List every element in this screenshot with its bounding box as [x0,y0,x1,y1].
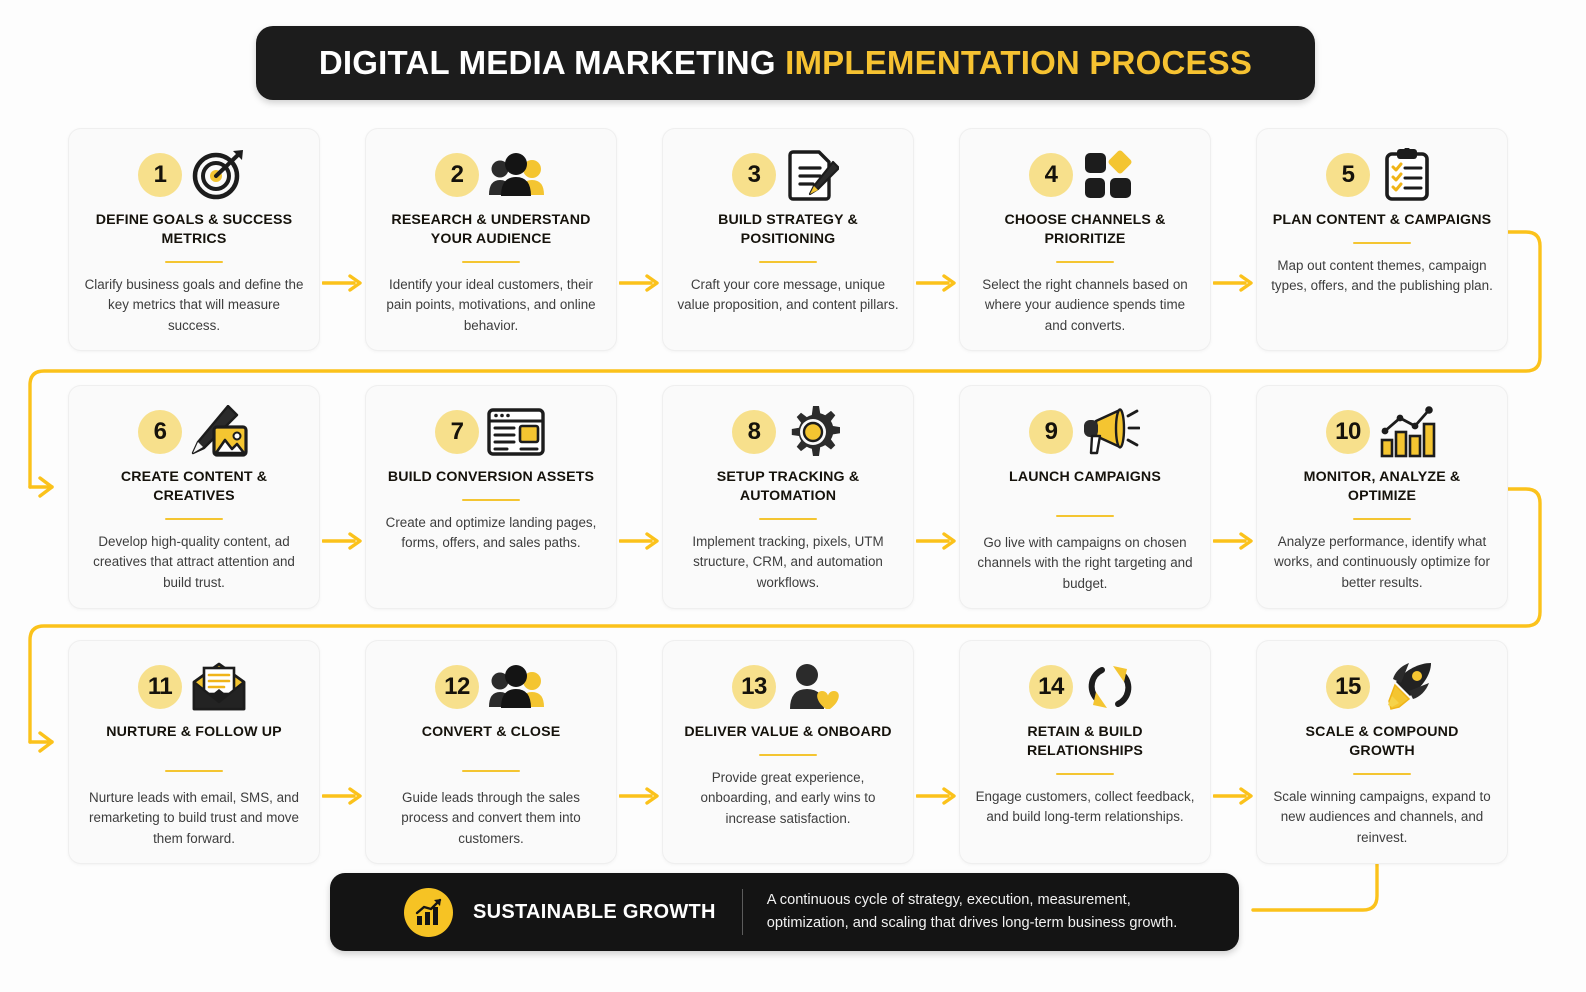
footer-description: A continuous cycle of strategy, executio… [767,889,1213,935]
title-divider [165,261,223,263]
bar-chart-growth-icon [1376,403,1438,461]
arrow-connector-14-15 [1211,640,1256,864]
document-pencil-icon [782,146,844,204]
person-heart-icon [782,658,844,716]
arrow-connector-6-7 [320,385,365,609]
step-title: BUILD CONVERSION ASSETS [388,468,594,487]
step-description: Identify your ideal customers, their pai… [380,275,602,336]
step-title: CONVERT & CLOSE [422,723,561,742]
step-card-11[interactable]: 11 NURTURE & FOLLOW UP Nurture leads wit… [68,640,320,864]
card-head: 6 [83,402,305,462]
title-divider [1056,261,1114,263]
clipboard-checklist-icon [1376,146,1438,204]
page-title: DIGITAL MEDIA MARKETING IMPLEMENTATION P… [319,44,1252,82]
step-card-4[interactable]: 4 CHOOSE CHANNELS & PRIORITIZE Select th… [959,128,1211,351]
step-number-badge: 13 [732,665,776,709]
step-number-badge: 15 [1326,665,1370,709]
title-divider [759,518,817,520]
title-divider [1353,773,1411,775]
arrow-connector-7-8 [617,385,662,609]
step-number-badge: 12 [435,665,479,709]
card-head: 10 [1271,402,1493,462]
landing-page-icon [485,403,547,461]
arrow-connector-1-2 [320,128,365,351]
title-divider [759,754,817,756]
arrow-connector-4-5 [1211,128,1256,351]
footer-divider [742,889,743,935]
arrow-connector-2-3 [617,128,662,351]
title-divider [462,770,520,772]
card-head: 11 [83,657,305,717]
card-head: 2 [380,145,602,205]
step-number-badge: 3 [732,153,776,197]
step-card-9[interactable]: 9 LAUNCH CAMPAIGNS Go live with campaign… [959,385,1211,609]
step-description: Craft your core message, unique value pr… [677,275,899,316]
step-title: DEFINE GOALS & SUCCESS METRICS [83,211,305,249]
growth-chart-icon [404,888,453,937]
step-description: Analyze performance, identify what works… [1271,532,1493,593]
step-title: BUILD STRATEGY & POSITIONING [677,211,899,249]
card-head: 5 [1271,145,1493,205]
step-title: MONITOR, ANALYZE & OPTIMIZE [1271,468,1493,506]
step-number-badge: 8 [732,410,776,454]
step-title: SETUP TRACKING & AUTOMATION [677,468,899,506]
step-description: Engage customers, collect feedback, and … [974,787,1196,828]
step-number-badge: 2 [435,153,479,197]
step-card-8[interactable]: 8 SETUP TRACKING & AUTOMATION Implement … [662,385,914,609]
step-description: Map out content themes, campaign types, … [1271,256,1493,297]
step-number-badge: 7 [435,410,479,454]
card-head: 4 [974,145,1196,205]
arrow-connector-3-4 [914,128,959,351]
step-title: CHOOSE CHANNELS & PRIORITIZE [974,211,1196,249]
title-divider [1353,242,1411,244]
page-title-banner: DIGITAL MEDIA MARKETING IMPLEMENTATION P… [256,26,1315,100]
step-card-7[interactable]: 7 BU [365,385,617,609]
step-card-15[interactable]: 15 SCALE & COMPOUND GROWTH Scale winning… [1256,640,1508,864]
step-description: Clarify business goals and define the ke… [83,275,305,336]
title-divider [1056,515,1114,517]
arrow-connector-12-13 [617,640,662,864]
step-card-3[interactable]: 3 BUILD STRATEGY & POSITIONING Craft you… [662,128,914,351]
card-head: 9 [974,402,1196,462]
title-divider [165,518,223,520]
channel-blocks-icon [1079,146,1141,204]
step-card-13[interactable]: 13 DELIVER VALUE & ONBOARD Provide great… [662,640,914,864]
step-description: Select the right channels based on where… [974,275,1196,336]
title-divider [759,261,817,263]
step-title: CREATE CONTENT & CREATIVES [83,468,305,506]
step-description: Develop high-quality content, ad creativ… [83,532,305,593]
step-description: Nurture leads with email, SMS, and remar… [83,788,305,849]
step-card-12[interactable]: 12 CONVERT & CLOSE Guide leads through t… [365,640,617,864]
step-card-14[interactable]: 14 RETAIN & BUILD RELATIONSHIPS Engage c… [959,640,1211,864]
gear-icon [782,403,844,461]
step-description: Go live with campaigns on chosen channel… [974,533,1196,594]
title-divider [1056,773,1114,775]
refresh-cycle-icon [1079,658,1141,716]
card-head: 1 [83,145,305,205]
step-number-badge: 6 [138,410,182,454]
step-description: Create and optimize landing pages, forms… [380,513,602,554]
step-number-badge: 10 [1326,410,1370,454]
step-number-badge: 14 [1029,665,1073,709]
arrow-connector-8-9 [914,385,959,609]
audience-group-icon [485,658,547,716]
step-card-5[interactable]: 5 PLAN CONTENT & CAMPAIGNS [1256,128,1508,351]
step-description: Provide great experience, onboarding, an… [677,768,899,829]
process-row-1: 1 DEFINE GOALS & SUCCESS METRICS Clarify… [68,128,1508,351]
title-divider [1353,518,1411,520]
step-number-badge: 5 [1326,153,1370,197]
page-title-part-2: IMPLEMENTATION PROCESS [785,44,1252,81]
step-card-1[interactable]: 1 DEFINE GOALS & SUCCESS METRICS Clarify… [68,128,320,351]
audience-group-icon [485,146,547,204]
step-title: NURTURE & FOLLOW UP [106,723,281,742]
footer-label: SUSTAINABLE GROWTH [473,901,716,924]
card-head: 14 [974,657,1196,717]
page-title-part-1: DIGITAL MEDIA MARKETING [319,44,776,81]
process-row-3: 11 NURTURE & FOLLOW UP Nurture leads wit… [68,640,1508,864]
megaphone-icon [1079,403,1141,461]
step-card-6[interactable]: 6 CREATE CONTENT & CREATIVES Develop hig… [68,385,320,609]
title-divider [462,499,520,501]
card-head: 15 [1271,657,1493,717]
pencil-image-icon [188,403,250,461]
target-arrow-icon [188,146,250,204]
step-description: Scale winning campaigns, expand to new a… [1271,787,1493,848]
rocket-icon [1376,658,1438,716]
step-card-10[interactable]: 10 MONITOR, ANALYZE & OPTIMIZE [1256,385,1508,609]
step-title: PLAN CONTENT & CAMPAIGNS [1273,211,1492,230]
open-envelope-icon [188,658,250,716]
step-title: LAUNCH CAMPAIGNS [1009,468,1161,487]
step-title: RETAIN & BUILD RELATIONSHIPS [974,723,1196,761]
step-number-badge: 1 [138,153,182,197]
arrow-connector-13-14 [914,640,959,864]
step-number-badge: 11 [138,665,182,709]
arrow-connector-11-12 [320,640,365,864]
step-number-badge: 4 [1029,153,1073,197]
card-head: 12 [380,657,602,717]
card-head: 13 [677,657,899,717]
card-head: 7 [380,402,602,462]
step-number-badge: 9 [1029,410,1073,454]
step-description: Guide leads through the sales process an… [380,788,602,849]
infographic-page: DIGITAL MEDIA MARKETING IMPLEMENTATION P… [0,0,1586,992]
process-row-2: 6 CREATE CONTENT & CREATIVES Develop hig… [68,385,1508,609]
step-title: RESEARCH & UNDERSTAND YOUR AUDIENCE [380,211,602,249]
step-description: Implement tracking, pixels, UTM structur… [677,532,899,593]
step-title: DELIVER VALUE & ONBOARD [684,723,891,742]
arrow-connector-9-10 [1211,385,1256,609]
title-divider [462,261,520,263]
card-head: 3 [677,145,899,205]
step-card-2[interactable]: 2 RESEARCH & UNDERSTAND YOUR AUDIENCE Id… [365,128,617,351]
title-divider [165,770,223,772]
step-title: SCALE & COMPOUND GROWTH [1271,723,1493,761]
card-head: 8 [677,402,899,462]
sustainable-growth-banner: SUSTAINABLE GROWTH A continuous cycle of… [330,873,1239,951]
